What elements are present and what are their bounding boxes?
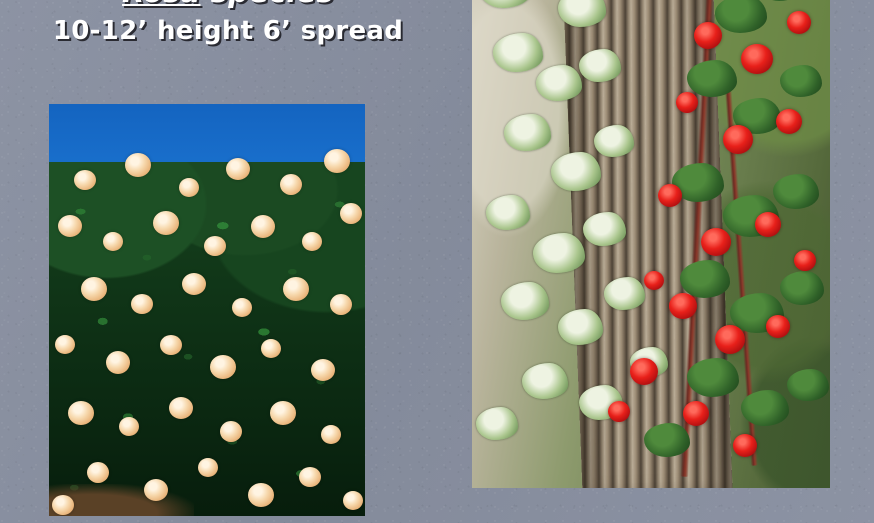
- apricot-rose-bloom: [131, 294, 153, 314]
- red-rose-bloom: [694, 22, 722, 49]
- page-title: Rosa species: [0, 0, 456, 8]
- ivy-leaf: [536, 65, 582, 101]
- ivy-leaf: [558, 309, 603, 345]
- red-rose-bloom: [776, 109, 802, 134]
- rose-foliage: [741, 390, 789, 426]
- red-rose-bloom: [755, 212, 781, 237]
- presentation-slide: Rosa species 10-12’ height 6’ spread: [0, 0, 874, 523]
- ivy-leaf: [504, 114, 551, 151]
- rose-foliage: [644, 423, 690, 457]
- ivy-leaf: [551, 152, 601, 191]
- red-rose-bloom: [794, 250, 816, 271]
- apricot-rose-bloom: [81, 277, 107, 301]
- apricot-rose-bloom: [280, 174, 302, 195]
- apricot-rose-bloom: [68, 401, 94, 425]
- apricot-rose-bloom: [55, 335, 75, 354]
- apricot-rose-bloom: [103, 232, 123, 251]
- ivy-leaf: [533, 233, 585, 273]
- apricot-rose-bloom: [340, 203, 362, 224]
- apricot-rose-bloom: [321, 425, 341, 444]
- apricot-rose-bloom: [232, 298, 252, 317]
- ivy-leaf: [583, 212, 626, 246]
- slide-title-block: Rosa species 10-12’ height 6’ spread: [0, 0, 456, 46]
- apricot-rose-bloom: [330, 294, 352, 315]
- apricot-rose-bloom: [160, 335, 182, 355]
- red-climbing-rose-tree-photo: [472, 0, 830, 488]
- species-genus-label: Rosa: [122, 0, 200, 9]
- apricot-rose-bloom: [144, 479, 168, 501]
- apricot-rose-bloom: [226, 158, 250, 180]
- plant-size-text: 10-12’ height 6’ spread: [0, 16, 456, 46]
- apricot-rose-bloom: [74, 170, 96, 190]
- red-rose-bloom: [741, 44, 773, 74]
- red-rose-bloom: [787, 11, 811, 34]
- rose-foliage: [715, 0, 767, 33]
- apricot-rose-bloom: [299, 467, 321, 487]
- apricot-rose-bloom: [261, 339, 281, 358]
- apricot-rose-bloom: [119, 417, 139, 436]
- ivy-leaf: [522, 363, 568, 399]
- apricot-rose-bloom: [283, 277, 309, 301]
- rose-foliage: [687, 358, 739, 397]
- rose-foliage: [687, 60, 737, 97]
- apricot-rose-bloom: [270, 401, 296, 425]
- species-rank-label: species: [201, 0, 334, 9]
- apricot-rose-bloom: [106, 351, 130, 374]
- ivy-leaf: [476, 407, 518, 440]
- red-rose-bloom: [723, 125, 753, 154]
- apricot-rose-bloom: [198, 458, 218, 477]
- apricot-rose-bloom: [204, 236, 226, 256]
- apricot-rose-bloom: [169, 397, 193, 419]
- ivy-leaf: [501, 282, 549, 320]
- rose-foliage: [773, 174, 819, 209]
- ivy-leaf: [486, 195, 530, 230]
- ivy-leaf: [493, 33, 543, 72]
- apricot-rose-bloom: [182, 273, 206, 295]
- red-rose-bloom: [644, 271, 664, 290]
- apricot-rose-bloom: [179, 178, 199, 197]
- red-rose-bloom: [669, 293, 697, 319]
- apricot-rose-bloom: [248, 483, 274, 507]
- rose-foliage: [780, 271, 824, 305]
- apricot-rose-hedge-photo: [49, 104, 365, 516]
- ivy-leaf: [604, 277, 645, 310]
- red-rose-bloom: [766, 315, 790, 338]
- rose-foliage: [780, 65, 822, 97]
- apricot-rose-bloom: [220, 421, 242, 442]
- red-rose-bloom: [733, 434, 757, 457]
- ivy-leaf: [594, 125, 634, 157]
- rose-foliage: [787, 369, 829, 401]
- red-rose-bloom: [701, 228, 731, 256]
- red-rose-bloom: [630, 358, 658, 385]
- ivy-leaf: [579, 49, 621, 82]
- apricot-rose-bloom: [302, 232, 322, 251]
